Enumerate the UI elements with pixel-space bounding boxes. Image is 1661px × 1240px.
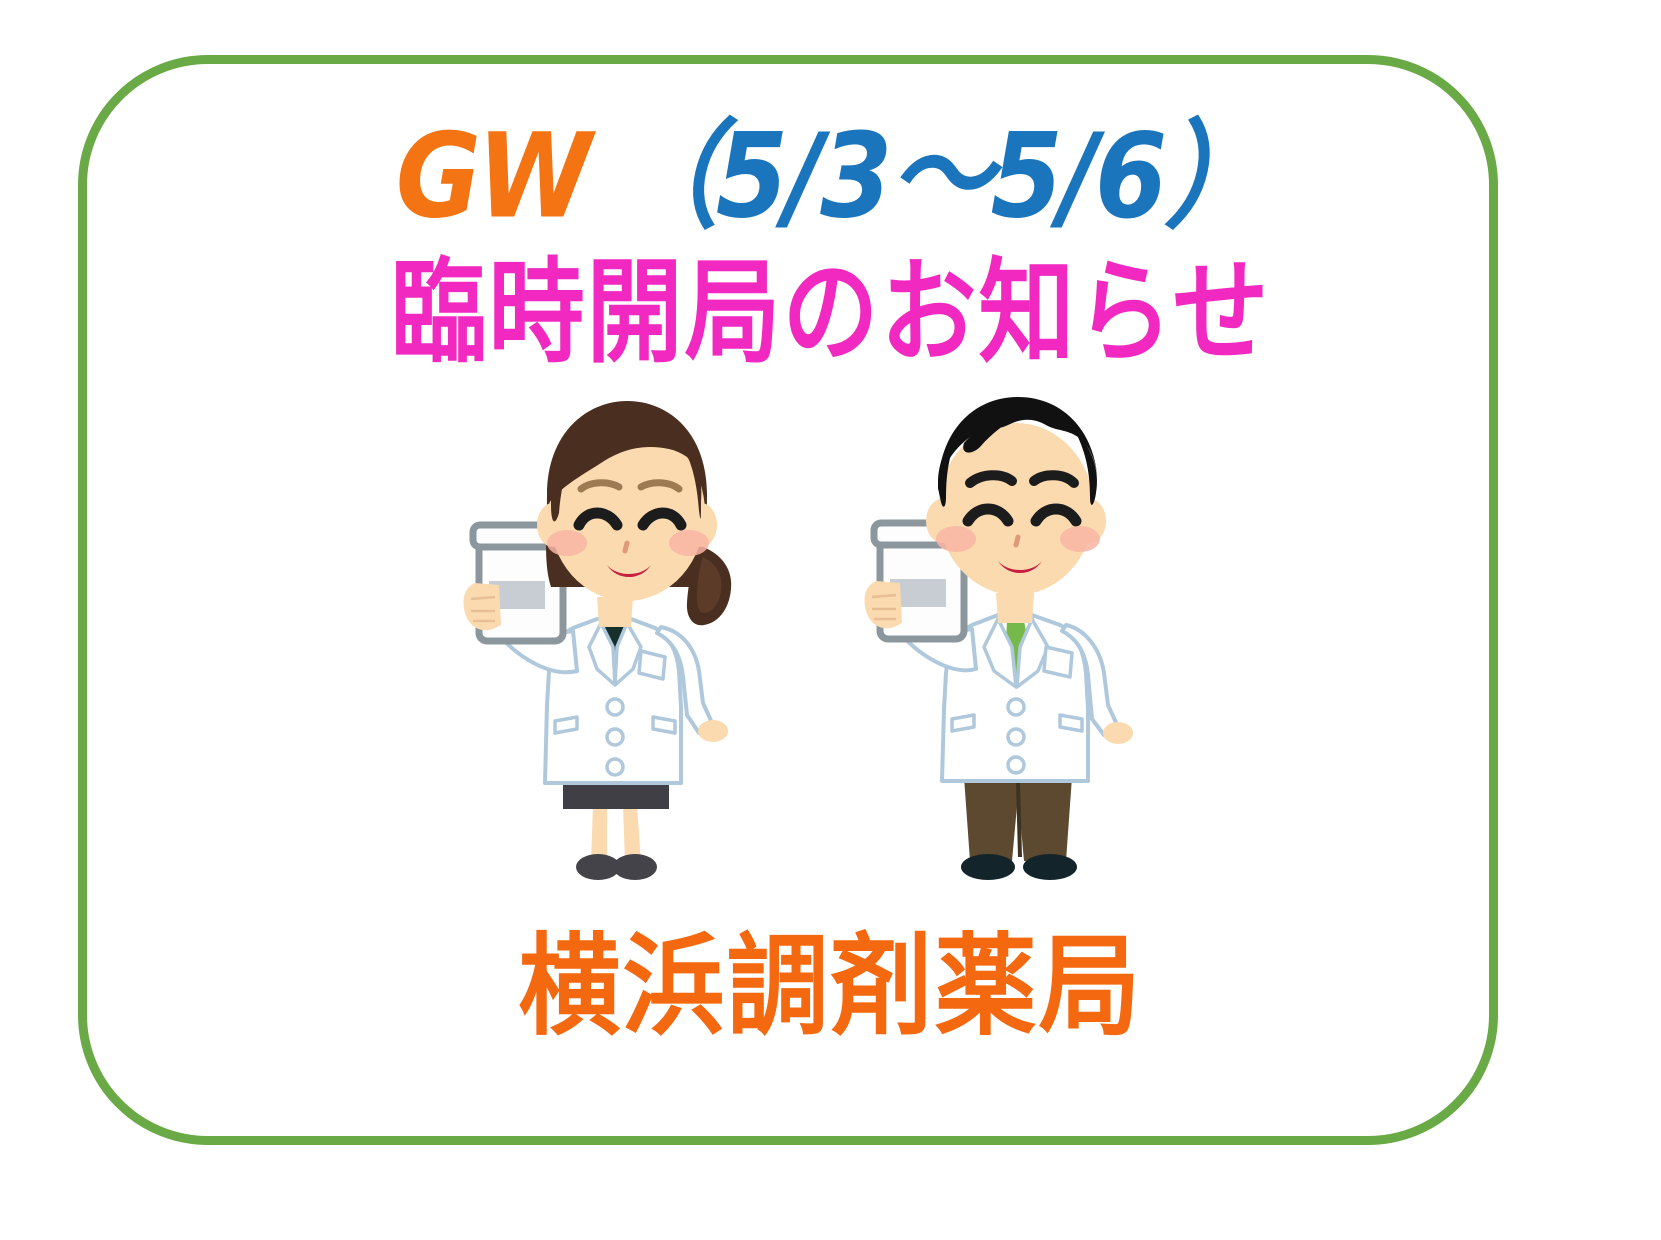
male-nose xyxy=(1016,537,1018,545)
female-nose xyxy=(625,543,627,551)
illustration-female-pharmacist xyxy=(455,385,775,895)
headline-line-1: GW （5/3〜5/6） xyxy=(0,118,1661,236)
poster-canvas: GW （5/3〜5/6） 臨時開局のお知らせ xyxy=(0,0,1661,1240)
male-shoes xyxy=(961,854,1077,880)
female-hand-left xyxy=(463,583,501,630)
female-skirt xyxy=(563,783,669,809)
shop-name-label: 横浜調剤薬局 xyxy=(0,898,1661,1057)
headline-line-2: 臨時開局のお知らせ xyxy=(0,257,1661,370)
male-neck xyxy=(996,593,1034,623)
male-hand-left xyxy=(864,581,902,628)
illustration-male-pharmacist xyxy=(860,385,1160,895)
male-trousers xyxy=(964,777,1072,861)
headline-block: GW （5/3〜5/6） 臨時開局のお知らせ xyxy=(0,118,1661,353)
female-neck xyxy=(597,597,633,627)
headline-gw-label: GW xyxy=(396,108,588,245)
headline-date-range: （5/3〜5/6） xyxy=(615,108,1265,245)
female-shoes xyxy=(576,854,657,880)
